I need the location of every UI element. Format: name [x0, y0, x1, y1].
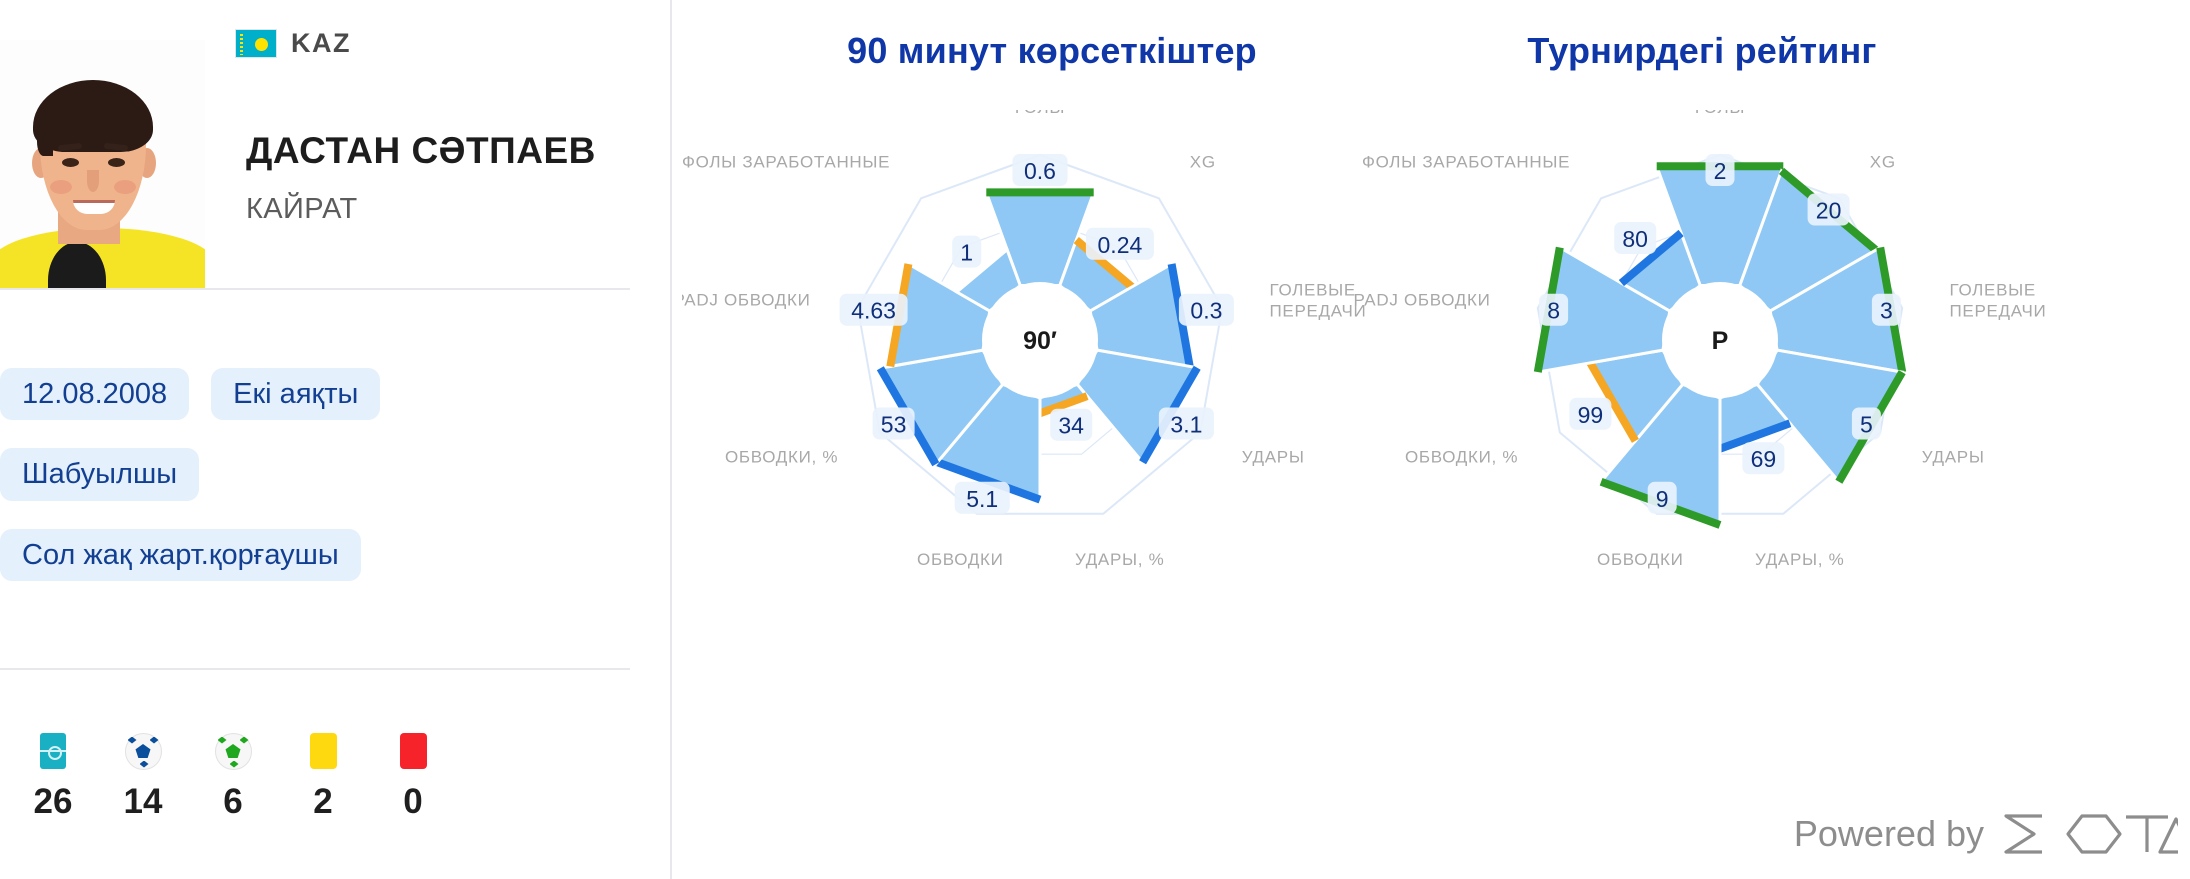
player-name: ДАСТАН СӘТПАЕВ	[246, 130, 596, 172]
chart-title-0: 90 минут көрсеткіштер	[682, 30, 1422, 72]
radar-axis-label: ФОЛЫ ЗАРАБОТАННЫЕ	[682, 153, 890, 172]
radar-center-label: 90′	[1023, 327, 1057, 355]
birth-date-badge: 12.08.2008	[0, 368, 189, 420]
player-identity: KAZ ДАСТАН СӘТПАЕВ КАЙРАТ	[0, 0, 670, 290]
radar-value-label: 99	[1578, 402, 1604, 428]
divider-bottom	[0, 668, 630, 670]
stat-icon-wrap	[98, 726, 188, 776]
radar-axis-label: ГОЛЕВЫЕПЕРЕДАЧИ	[1950, 281, 2047, 321]
yellow-card-icon	[310, 733, 337, 769]
radar-value-label: 9	[1656, 486, 1669, 512]
radar-axis-label: УДАРЫ, %	[1755, 550, 1844, 569]
player-info-panel: KAZ ДАСТАН СӘТПАЕВ КАЙРАТ 12.08.2008Екі …	[0, 0, 672, 879]
radar-axis-label: ОБВОДКИ, %	[1405, 448, 1518, 467]
stat-cell: 2	[278, 726, 368, 822]
powered-by-footer: Powered by	[1794, 811, 2178, 857]
radar-axis-label: PADJ ОБВОДКИ	[1354, 291, 1491, 310]
radar-axis-label: ОБВОДКИ	[917, 550, 1004, 569]
player-photo	[0, 40, 205, 290]
stat-cell: 0	[368, 726, 458, 822]
radar-axis-label: ФОЛЫ ЗАРАБОТАННЫЕ	[1362, 153, 1570, 172]
radar-axis-label: ОБВОДКИ	[1597, 550, 1684, 569]
powered-by-label: Powered by	[1794, 813, 1984, 855]
stat-cell: 26	[8, 726, 98, 822]
radar-axis-label: PADJ ОБВОДКИ	[682, 291, 811, 310]
stat-icon-wrap	[278, 726, 368, 776]
stat-value: 0	[368, 782, 458, 822]
club-name: КАЙРАТ	[246, 193, 358, 226]
stat-icon-wrap	[8, 726, 98, 776]
per-90-metrics-chart: 90 минут көрсеткіштер 90′0.60.240.33.134…	[682, 0, 1422, 800]
stat-value: 14	[98, 782, 188, 822]
stat-value: 6	[188, 782, 278, 822]
radar-value-label: 8	[1547, 298, 1560, 324]
radar-value-label: 2	[1714, 158, 1727, 184]
radar-value-label: 53	[881, 412, 907, 438]
radar-axis-label: ГОЛЫ	[1015, 110, 1065, 117]
radar-center-label: P	[1712, 327, 1729, 355]
stat-icon-wrap	[188, 726, 278, 776]
player-attribute-badges: 12.08.2008Екі аяқтыШабуылшыСол жақ жарт.…	[0, 368, 640, 581]
radar-axis-label: УДАРЫ	[1922, 448, 1985, 467]
radar-axis-label: XG	[1190, 153, 1216, 172]
position-badge: Шабуылшы	[0, 448, 199, 500]
stat-cell: 14	[98, 726, 188, 822]
soccer-ball-blue-icon	[125, 733, 162, 770]
radar-value-label: 5.1	[966, 486, 998, 512]
nationality-row: KAZ	[235, 28, 351, 59]
stat-value: 2	[278, 782, 368, 822]
radar-value-label: 80	[1622, 226, 1648, 252]
kazakhstan-flag-icon	[235, 29, 277, 58]
stat-cell: 6	[188, 726, 278, 822]
divider-top	[0, 288, 630, 290]
stat-value: 26	[8, 782, 98, 822]
pitch-icon	[40, 733, 66, 769]
tournament-rating-chart: Турнирдегі рейтинг P2203569999880ГОЛЫXGГ…	[1332, 0, 2072, 800]
radar-axis-label: ОБВОДКИ, %	[725, 448, 838, 467]
radar-1: P2203569999880ГОЛЫXGГОЛЕВЫЕПЕРЕДАЧИУДАРЫ…	[1332, 110, 2072, 730]
radar-axis-label: УДАРЫ	[1242, 448, 1305, 467]
secondary-position-badge: Сол жақ жарт.қорғаушы	[0, 529, 361, 581]
radar-axis-label: XG	[1870, 153, 1896, 172]
radar-value-label: 3.1	[1170, 412, 1202, 438]
radar-value-label: 0.6	[1024, 158, 1056, 184]
tournament-rating-radar: P2203569999880ГОЛЫXGГОЛЕВЫЕПЕРЕДАЧИУДАРЫ…	[1332, 110, 2072, 730]
radar-value-label: 5	[1860, 412, 1873, 438]
stat-icon-wrap	[368, 726, 458, 776]
radar-value-label: 20	[1816, 198, 1842, 224]
per-90-metrics-radar: 90′0.60.240.33.1345.1534.631ГОЛЫXGГОЛЕВЫ…	[682, 110, 1422, 730]
sota-logo-icon	[1998, 811, 2178, 857]
season-stats-row: 2614620	[8, 726, 458, 822]
radar-value-label: 69	[1751, 446, 1777, 472]
radar-axis-label: УДАРЫ, %	[1075, 550, 1164, 569]
radar-0: 90′0.60.240.33.1345.1534.631ГОЛЫXGГОЛЕВЫ…	[682, 110, 1422, 730]
radar-value-label: 3	[1880, 298, 1893, 324]
nationality-code: KAZ	[291, 28, 351, 59]
footedness-badge: Екі аяқты	[211, 368, 380, 420]
radar-value-label: 34	[1058, 413, 1084, 439]
charts-area: 90 минут көрсеткіштер 90′0.60.240.33.134…	[672, 0, 2190, 879]
player-stat-card: KAZ ДАСТАН СӘТПАЕВ КАЙРАТ 12.08.2008Екі …	[0, 0, 2190, 879]
radar-value-label: 0.24	[1098, 232, 1143, 258]
radar-value-label: 4.63	[851, 298, 896, 324]
red-card-icon	[400, 733, 427, 769]
radar-value-label: 1	[960, 240, 973, 266]
radar-value-label: 0.3	[1190, 298, 1222, 324]
soccer-ball-green-icon	[215, 733, 252, 770]
radar-axis-label: ГОЛЫ	[1695, 110, 1745, 117]
chart-title-1: Турнирдегі рейтинг	[1332, 30, 2072, 72]
